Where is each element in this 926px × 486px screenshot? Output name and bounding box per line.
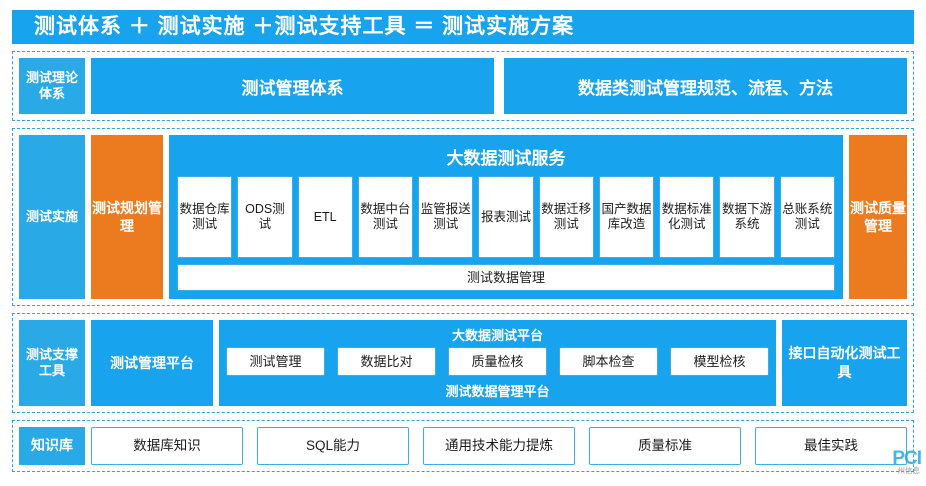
- row-support-stub: 测试支撑工具: [19, 320, 85, 406]
- service-cell-data-warehouse[interactable]: 数据仓库测试: [177, 176, 232, 258]
- service-cell-general-ledger[interactable]: 总账系统测试: [780, 176, 835, 258]
- knowledge-cell-best-practice[interactable]: 最佳实践: [755, 427, 907, 465]
- knowledge-cell-database[interactable]: 数据库知识: [91, 427, 243, 465]
- test-data-management-box[interactable]: 测试数据管理: [177, 264, 835, 291]
- row-theory: 测试理论体系 测试管理体系 数据类测试管理规范、流程、方法: [12, 51, 914, 121]
- page-title: 测试体系 ＋ 测试实施 ＋测试支持工具 ＝ 测试实施方案: [12, 10, 914, 44]
- row-implementation-content: 测试规划管理 大数据测试服务 数据仓库测试 ODS测试 ETL 数据中台测试 监…: [91, 135, 907, 299]
- test-management-platform-box[interactable]: 测试管理平台: [91, 320, 213, 406]
- row-knowledge-stub: 知识库: [19, 427, 85, 465]
- theory-box-data-test-standards[interactable]: 数据类测试管理规范、流程、方法: [504, 58, 907, 114]
- knowledge-cell-general-tech[interactable]: 通用技术能力提炼: [423, 427, 575, 465]
- platform-cell-quality-check[interactable]: 质量检核: [448, 347, 547, 376]
- row-theory-stub: 测试理论体系: [19, 58, 85, 114]
- platform-cell-script-check[interactable]: 脚本检查: [559, 347, 658, 376]
- service-cell-etl[interactable]: ETL: [298, 176, 353, 258]
- platform-cell-data-comparison[interactable]: 数据比对: [337, 347, 436, 376]
- service-cell-data-midplatform[interactable]: 数据中台测试: [358, 176, 413, 258]
- bigdata-test-service-panel: 大数据测试服务 数据仓库测试 ODS测试 ETL 数据中台测试 监管报送测试 报…: [169, 135, 843, 299]
- bigdata-test-service-title: 大数据测试服务: [177, 141, 835, 176]
- diagram-page: 测试体系 ＋ 测试实施 ＋测试支持工具 ＝ 测试实施方案 测试理论体系 测试管理…: [0, 0, 926, 486]
- platform-cell-model-check[interactable]: 模型检核: [670, 347, 769, 376]
- row-knowledge-content: 数据库知识 SQL能力 通用技术能力提炼 质量标准 最佳实践: [91, 427, 907, 465]
- test-quality-management-box[interactable]: 测试质量管理: [849, 135, 907, 299]
- service-cell-report[interactable]: 报表测试: [478, 176, 533, 258]
- service-cell-downstream-systems[interactable]: 数据下游系统: [719, 176, 774, 258]
- service-cell-regulatory-reporting[interactable]: 监管报送测试: [418, 176, 473, 258]
- bigdata-test-service-cells: 数据仓库测试 ODS测试 ETL 数据中台测试 监管报送测试 报表测试 数据迁移…: [177, 176, 835, 258]
- knowledge-cell-sql[interactable]: SQL能力: [257, 427, 409, 465]
- service-cell-data-migration[interactable]: 数据迁移测试: [539, 176, 594, 258]
- row-support-content: 测试管理平台 大数据测试平台 测试管理 数据比对 质量检核 脚本检查 模型检核 …: [91, 320, 907, 406]
- row-support-tools: 测试支撑工具 测试管理平台 大数据测试平台 测试管理 数据比对 质量检核 脚本检…: [12, 313, 914, 413]
- service-cell-domestic-db-reform[interactable]: 国产数据库改造: [599, 176, 654, 258]
- theory-box-management-system[interactable]: 测试管理体系: [91, 58, 494, 114]
- service-cell-ods[interactable]: ODS测试: [237, 176, 292, 258]
- service-cell-data-standardization[interactable]: 数据标准化测试: [659, 176, 714, 258]
- test-data-management-platform-label: 测试数据管理平台: [226, 376, 769, 402]
- row-theory-content: 测试管理体系 数据类测试管理规范、流程、方法: [91, 58, 907, 114]
- bigdata-test-platform-cells: 测试管理 数据比对 质量检核 脚本检查 模型检核: [226, 347, 769, 376]
- test-planning-management-box[interactable]: 测试规划管理: [91, 135, 163, 299]
- row-knowledge-base: 知识库 数据库知识 SQL能力 通用技术能力提炼 质量标准 最佳实践: [12, 420, 914, 472]
- row-implementation: 测试实施 测试规划管理 大数据测试服务 数据仓库测试 ODS测试 ETL 数据中…: [12, 128, 914, 306]
- row-implementation-stub: 测试实施: [19, 135, 85, 299]
- bigdata-test-platform-panel: 大数据测试平台 测试管理 数据比对 质量检核 脚本检查 模型检核 测试数据管理平…: [219, 320, 776, 406]
- knowledge-cell-quality-standard[interactable]: 质量标准: [589, 427, 741, 465]
- api-automation-tool-box[interactable]: 接口自动化测试工具: [782, 320, 907, 406]
- bigdata-test-platform-title: 大数据测试平台: [226, 323, 769, 347]
- platform-cell-test-management[interactable]: 测试管理: [226, 347, 325, 376]
